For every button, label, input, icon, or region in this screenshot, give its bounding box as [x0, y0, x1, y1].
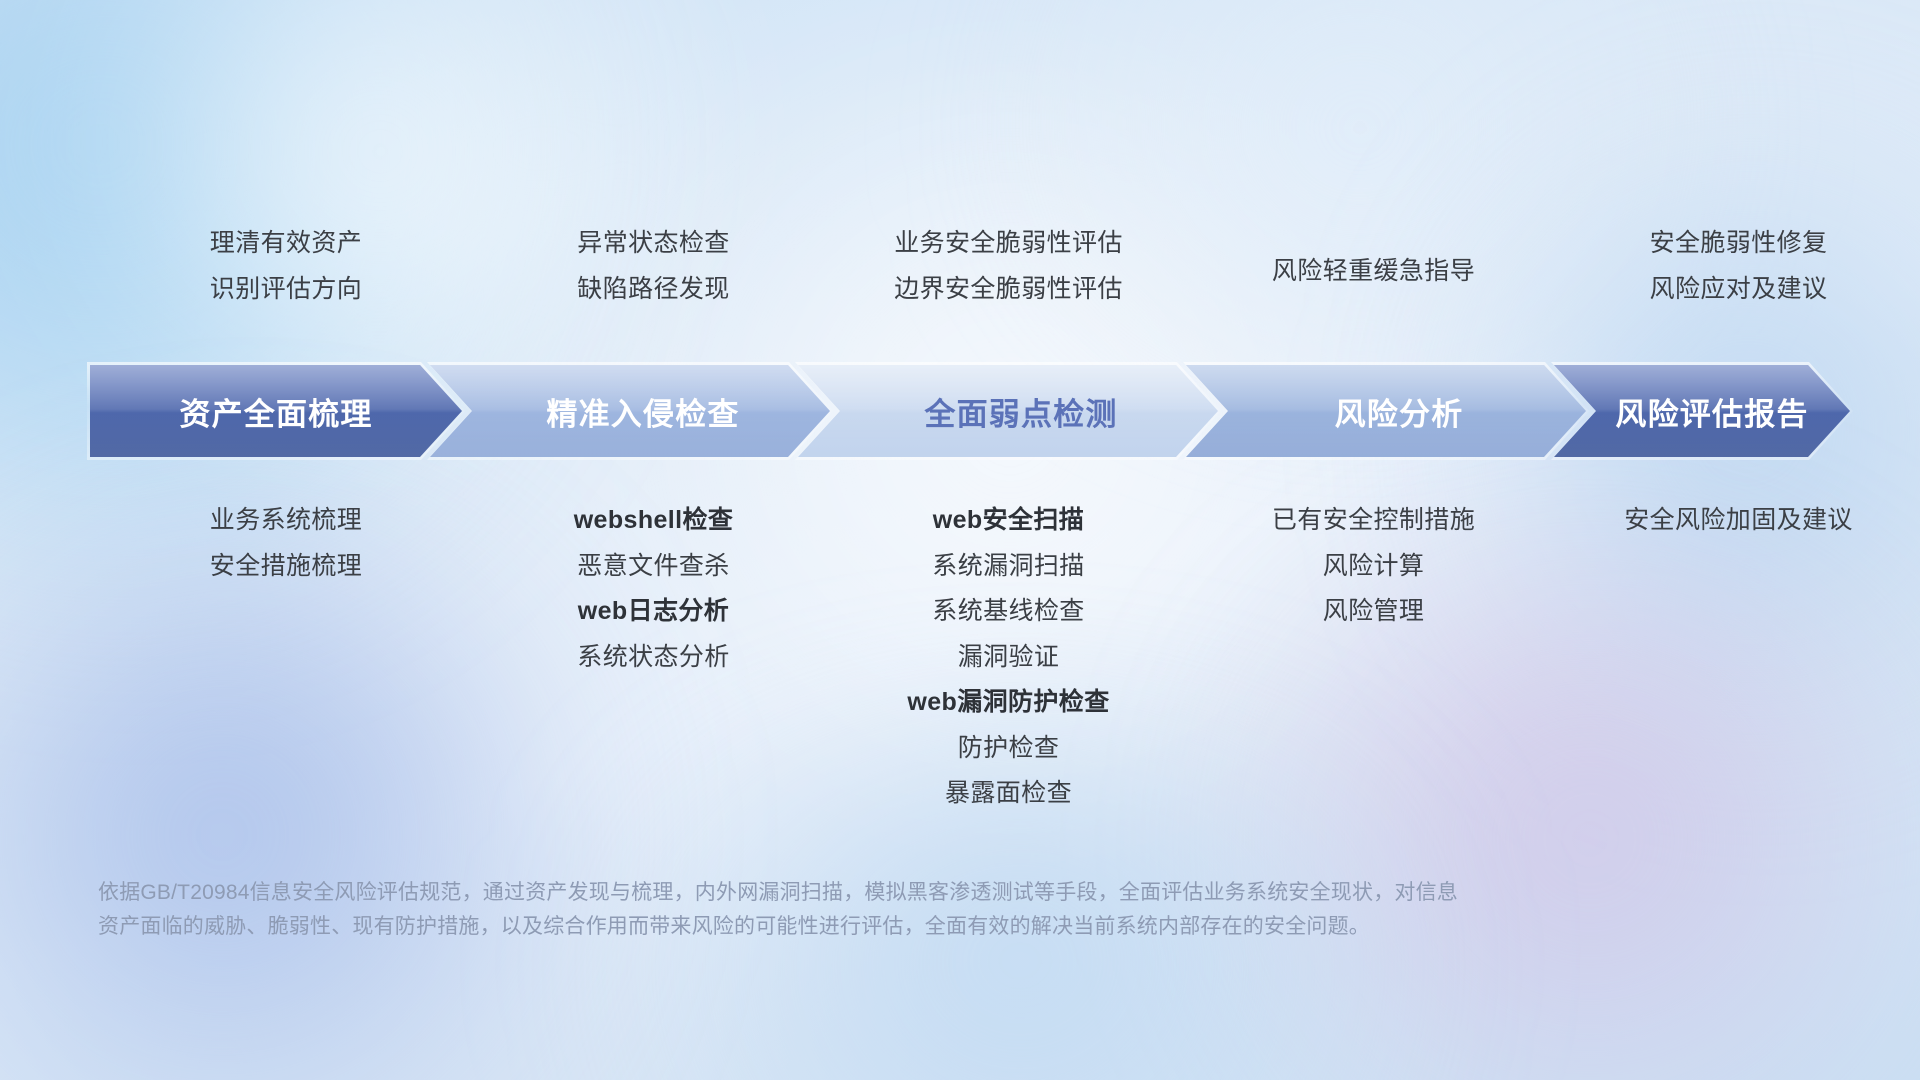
bottom-item: 系统基线检查: [932, 596, 1084, 628]
stage-label: 精准入侵检查: [546, 389, 739, 434]
stage-label: 风险分析: [1335, 389, 1464, 434]
top-item: 业务安全脆弱性评估: [894, 228, 1123, 260]
bottom-item: 风险管理: [1323, 596, 1425, 628]
bottom-item: 漏洞验证: [958, 642, 1060, 674]
bottom-item: 安全风险加固及建议: [1624, 505, 1853, 537]
bottom-item: 已有安全控制措施: [1272, 505, 1475, 537]
diagram-content: 理清有效资产 识别评估方向 异常状态检查 缺陷路径发现 业务安全脆弱性评估 边界…: [0, 0, 1920, 1080]
bottom-item: 恶意文件查杀: [577, 551, 729, 583]
top-item: 风险应对及建议: [1650, 274, 1828, 306]
footer-description: 依据GB/T20984信息安全风险评估规范，通过资产发现与梳理，内外网漏洞扫描，…: [98, 876, 1638, 944]
bottom-items-asset-inventory: 业务系统梳理 安全措施梳理: [96, 505, 476, 810]
bottom-items-weakness-detection: web安全扫描 系统漏洞扫描 系统基线检查 漏洞验证 web漏洞防护检查 防护检…: [831, 505, 1186, 810]
top-items-intrusion-check: 异常状态检查 缺陷路径发现: [476, 228, 831, 305]
slide-canvas: 理清有效资产 识别评估方向 异常状态检查 缺陷路径发现 业务安全脆弱性评估 边界…: [0, 0, 1920, 1080]
top-item: 识别评估方向: [210, 274, 362, 306]
bottom-items-risk-report: 安全风险加固及建议: [1561, 505, 1916, 810]
bottom-items-intrusion-check: webshell检查 恶意文件查杀 web日志分析 系统状态分析: [476, 505, 831, 810]
bottom-item: 业务系统梳理: [210, 505, 362, 537]
stage-chevron-risk-analysis[interactable]: 风险分析: [1186, 365, 1586, 457]
bottom-item: 风险计算: [1323, 551, 1425, 583]
top-item: 风险轻重缓急指导: [1272, 256, 1475, 288]
top-outcomes-row: 理清有效资产 识别评估方向 异常状态检查 缺陷路径发现 业务安全脆弱性评估 边界…: [96, 228, 1850, 305]
process-flow-band: 资产全面梳理 精准入侵检查 全面弱点检测: [90, 365, 1850, 457]
bottom-item: web漏洞防护检查: [907, 687, 1109, 719]
top-items-asset-inventory: 理清有效资产 识别评估方向: [96, 228, 476, 305]
top-item: 边界安全脆弱性评估: [894, 274, 1123, 306]
bottom-activities-row: 业务系统梳理 安全措施梳理 webshell检查 恶意文件查杀 web日志分析 …: [96, 505, 1850, 810]
stage-chevron-asset-inventory[interactable]: 资产全面梳理: [90, 365, 462, 457]
bottom-item: web日志分析: [578, 596, 729, 628]
bottom-item: web安全扫描: [933, 505, 1084, 537]
stage-chevron-weakness-detection[interactable]: 全面弱点检测: [798, 365, 1218, 457]
bottom-item: webshell检查: [574, 505, 734, 537]
bottom-item: 暴露面检查: [945, 778, 1072, 810]
stage-chevron-intrusion-check[interactable]: 精准入侵检查: [430, 365, 830, 457]
bottom-item: 防护检查: [958, 733, 1060, 765]
footer-line: 资产面临的威胁、脆弱性、现有防护措施，以及综合作用而带来风险的可能性进行评估，全…: [98, 910, 1638, 944]
top-items-weakness-detection: 业务安全脆弱性评估 边界安全脆弱性评估: [831, 228, 1186, 305]
bottom-item: 系统漏洞扫描: [932, 551, 1084, 583]
bottom-item: 系统状态分析: [577, 642, 729, 674]
top-item: 缺陷路径发现: [577, 274, 729, 306]
bottom-items-risk-analysis: 已有安全控制措施 风险计算 风险管理: [1186, 505, 1561, 810]
top-items-risk-report: 安全脆弱性修复 风险应对及建议: [1561, 228, 1916, 305]
top-items-risk-analysis: 风险轻重缓急指导: [1186, 228, 1561, 305]
top-item: 安全脆弱性修复: [1650, 228, 1828, 260]
bottom-item: 安全措施梳理: [210, 551, 362, 583]
footer-line: 依据GB/T20984信息安全风险评估规范，通过资产发现与梳理，内外网漏洞扫描，…: [98, 876, 1638, 910]
stage-label: 风险评估报告: [1615, 389, 1808, 434]
top-item: 异常状态检查: [577, 228, 729, 260]
stage-label: 全面弱点检测: [924, 389, 1117, 434]
top-item: 理清有效资产: [210, 228, 362, 260]
stage-label: 资产全面梳理: [179, 389, 372, 434]
stage-chevron-risk-report[interactable]: 风险评估报告: [1554, 365, 1850, 457]
